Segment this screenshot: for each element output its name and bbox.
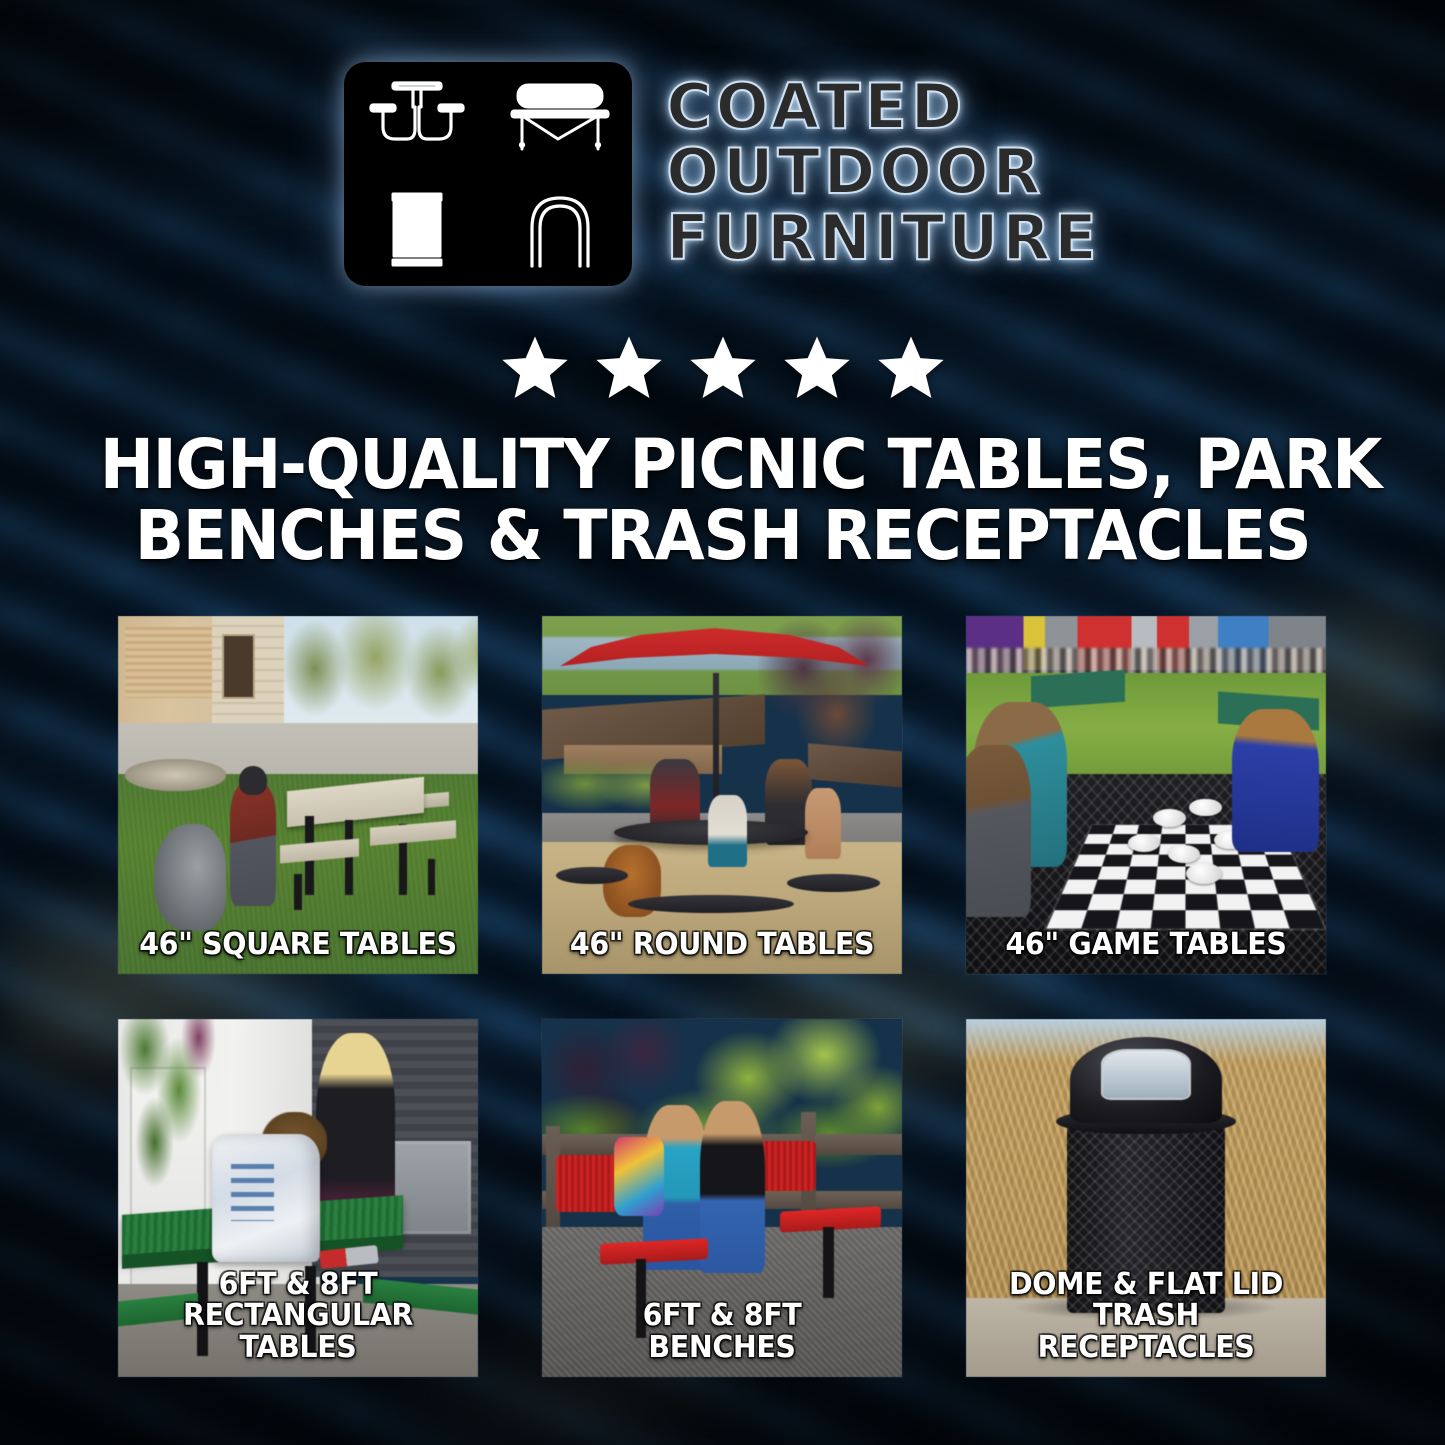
product-caption: 46" SQUARE TABLES <box>133 929 464 961</box>
product-tile-game-tables[interactable]: 46" GAME TABLES <box>966 616 1326 974</box>
headline: HIGH-QUALITY PICNIC TABLES, PARK BENCHES… <box>100 430 1346 572</box>
star-icon <box>780 333 854 403</box>
bench-side-icon <box>490 65 629 172</box>
product-grid: 46" SQUARE TABLES <box>118 616 1327 1377</box>
star-icon <box>686 333 760 403</box>
product-photo-game-tables <box>966 616 1326 974</box>
star-icon <box>874 333 948 403</box>
logo-icon-grid <box>344 62 632 286</box>
promotional-poster: COATED OUTDOOR FURNITURE HIGH-QUALITY PI… <box>0 0 1445 1445</box>
bike-rack-arch-icon <box>490 176 629 283</box>
caption-line-1: DOME & FLAT LID <box>981 1269 1312 1301</box>
headline-line-1: HIGH-QUALITY PICNIC TABLES, PARK <box>100 430 1346 501</box>
caption-line-1: 46" GAME TABLES <box>981 929 1312 961</box>
wordmark-line-3: FURNITURE <box>666 206 1100 269</box>
product-caption: 6FT & 8FT RECTANGULAR TABLES <box>133 1269 464 1364</box>
product-caption: 6FT & 8FT BENCHES <box>557 1300 888 1363</box>
product-caption: DOME & FLAT LID TRASH RECEPTACLES <box>981 1269 1312 1364</box>
headline-line-2: BENCHES & TRASH RECEPTACLES <box>100 501 1346 572</box>
product-tile-rectangular-tables[interactable]: 6FT & 8FT RECTANGULAR TABLES <box>118 1019 478 1377</box>
star-icon <box>592 333 666 403</box>
product-photo-round-tables <box>542 616 902 974</box>
product-photo-square-tables <box>118 616 478 974</box>
product-caption: 46" GAME TABLES <box>981 929 1312 961</box>
product-tile-round-tables[interactable]: 46" ROUND TABLES <box>542 616 902 974</box>
caption-line-2: RECTANGULAR TABLES <box>133 1300 464 1363</box>
star-icon <box>498 333 572 403</box>
brand-wordmark: COATED OUTDOOR FURNITURE <box>666 75 1100 273</box>
wordmark-line-1: COATED <box>666 75 1100 138</box>
product-tile-benches[interactable]: 6FT & 8FT BENCHES <box>542 1019 902 1377</box>
picnic-table-front-icon <box>347 65 486 172</box>
caption-line-1: 46" ROUND TABLES <box>557 929 888 961</box>
caption-line-1: 6FT & 8FT <box>133 1269 464 1301</box>
caption-line-2: TRASH RECEPTACLES <box>981 1300 1312 1363</box>
product-caption: 46" ROUND TABLES <box>557 929 888 961</box>
brand-logo: COATED OUTDOOR FURNITURE <box>0 62 1445 286</box>
caption-line-1: 46" SQUARE TABLES <box>133 929 464 961</box>
star-rating <box>0 333 1445 403</box>
caption-line-1: 6FT & 8FT <box>557 1300 888 1332</box>
caption-line-2: BENCHES <box>557 1332 888 1364</box>
wordmark-line-2: OUTDOOR <box>666 140 1100 203</box>
trash-receptacle-icon <box>347 176 486 283</box>
product-tile-trash-receptacles[interactable]: DOME & FLAT LID TRASH RECEPTACLES <box>966 1019 1326 1377</box>
product-tile-square-tables[interactable]: 46" SQUARE TABLES <box>118 616 478 974</box>
